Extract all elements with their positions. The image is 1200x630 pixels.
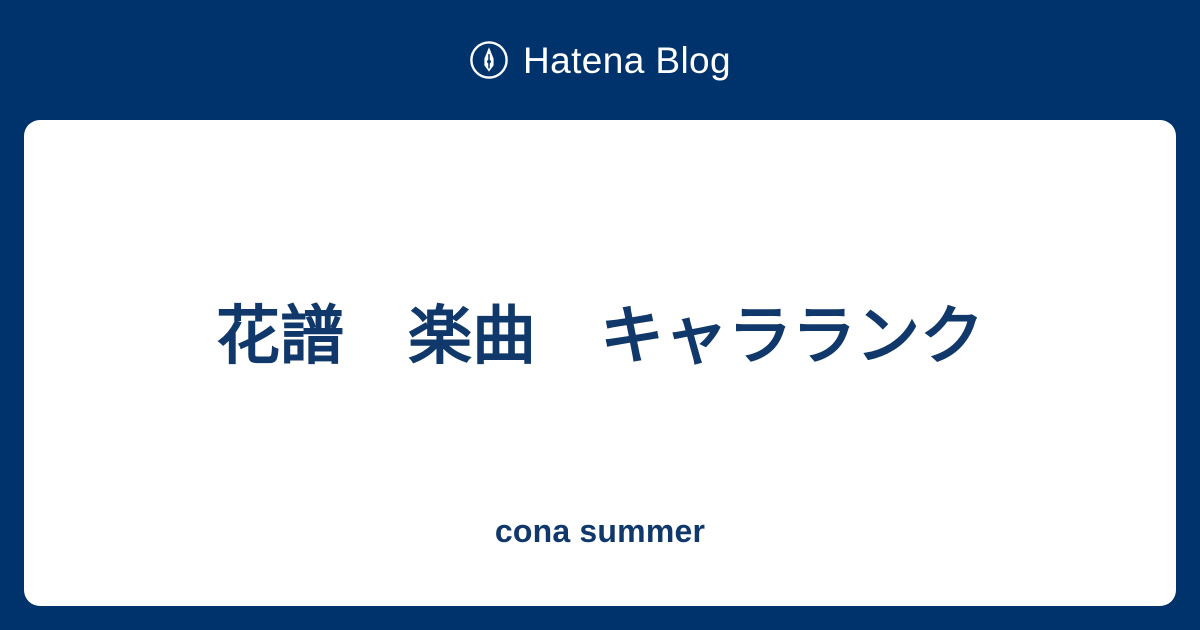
open-graph-card: Hatena Blog 花譜 楽曲 キャラランク cona summer — [0, 0, 1200, 630]
entry-panel: 花譜 楽曲 キャラランク cona summer — [24, 120, 1176, 606]
fountain-pen-nib-circle-icon — [469, 40, 509, 80]
blog-name: cona summer — [24, 512, 1176, 550]
brand-header: Hatena Blog — [0, 0, 1200, 120]
brand-name: Hatena Blog — [523, 42, 731, 79]
entry-title: 花譜 楽曲 キャラランク — [24, 296, 1176, 376]
